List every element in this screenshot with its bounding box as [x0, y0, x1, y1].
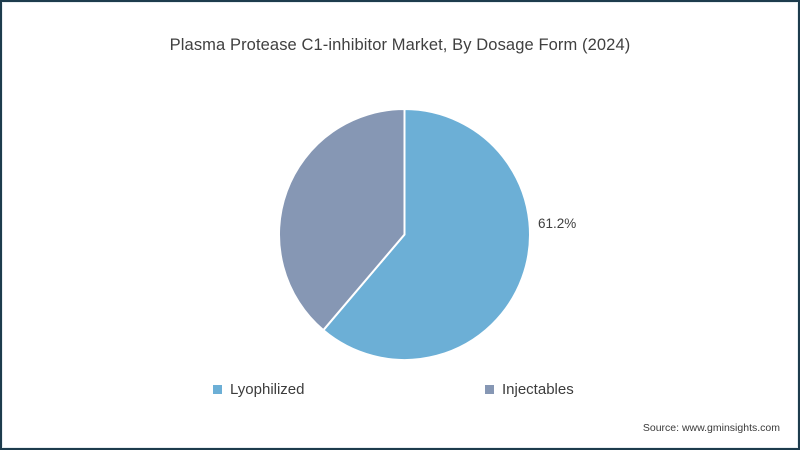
- pie-chart-svg: [279, 109, 530, 360]
- data-label-lyophilized: 61.2%: [538, 216, 576, 231]
- page-title: Plasma Protease C1-inhibitor Market, By …: [2, 36, 798, 55]
- legend-swatch-lyophilized: [213, 385, 222, 394]
- source-attribution: Source: www.gminsights.com: [643, 422, 780, 434]
- legend-item-injectables[interactable]: Injectables: [485, 379, 574, 399]
- legend-label-injectables: Injectables: [502, 381, 574, 398]
- legend-swatch-injectables: [485, 385, 494, 394]
- pie-slice-group: [279, 109, 530, 360]
- pie-chart: [279, 109, 530, 360]
- legend-label-lyophilized: Lyophilized: [230, 381, 305, 398]
- chart-screenshot: Plasma Protease C1-inhibitor Market, By …: [0, 0, 800, 450]
- legend-item-lyophilized[interactable]: Lyophilized: [213, 379, 305, 399]
- chart-legend: Lyophilized Injectables: [2, 379, 798, 399]
